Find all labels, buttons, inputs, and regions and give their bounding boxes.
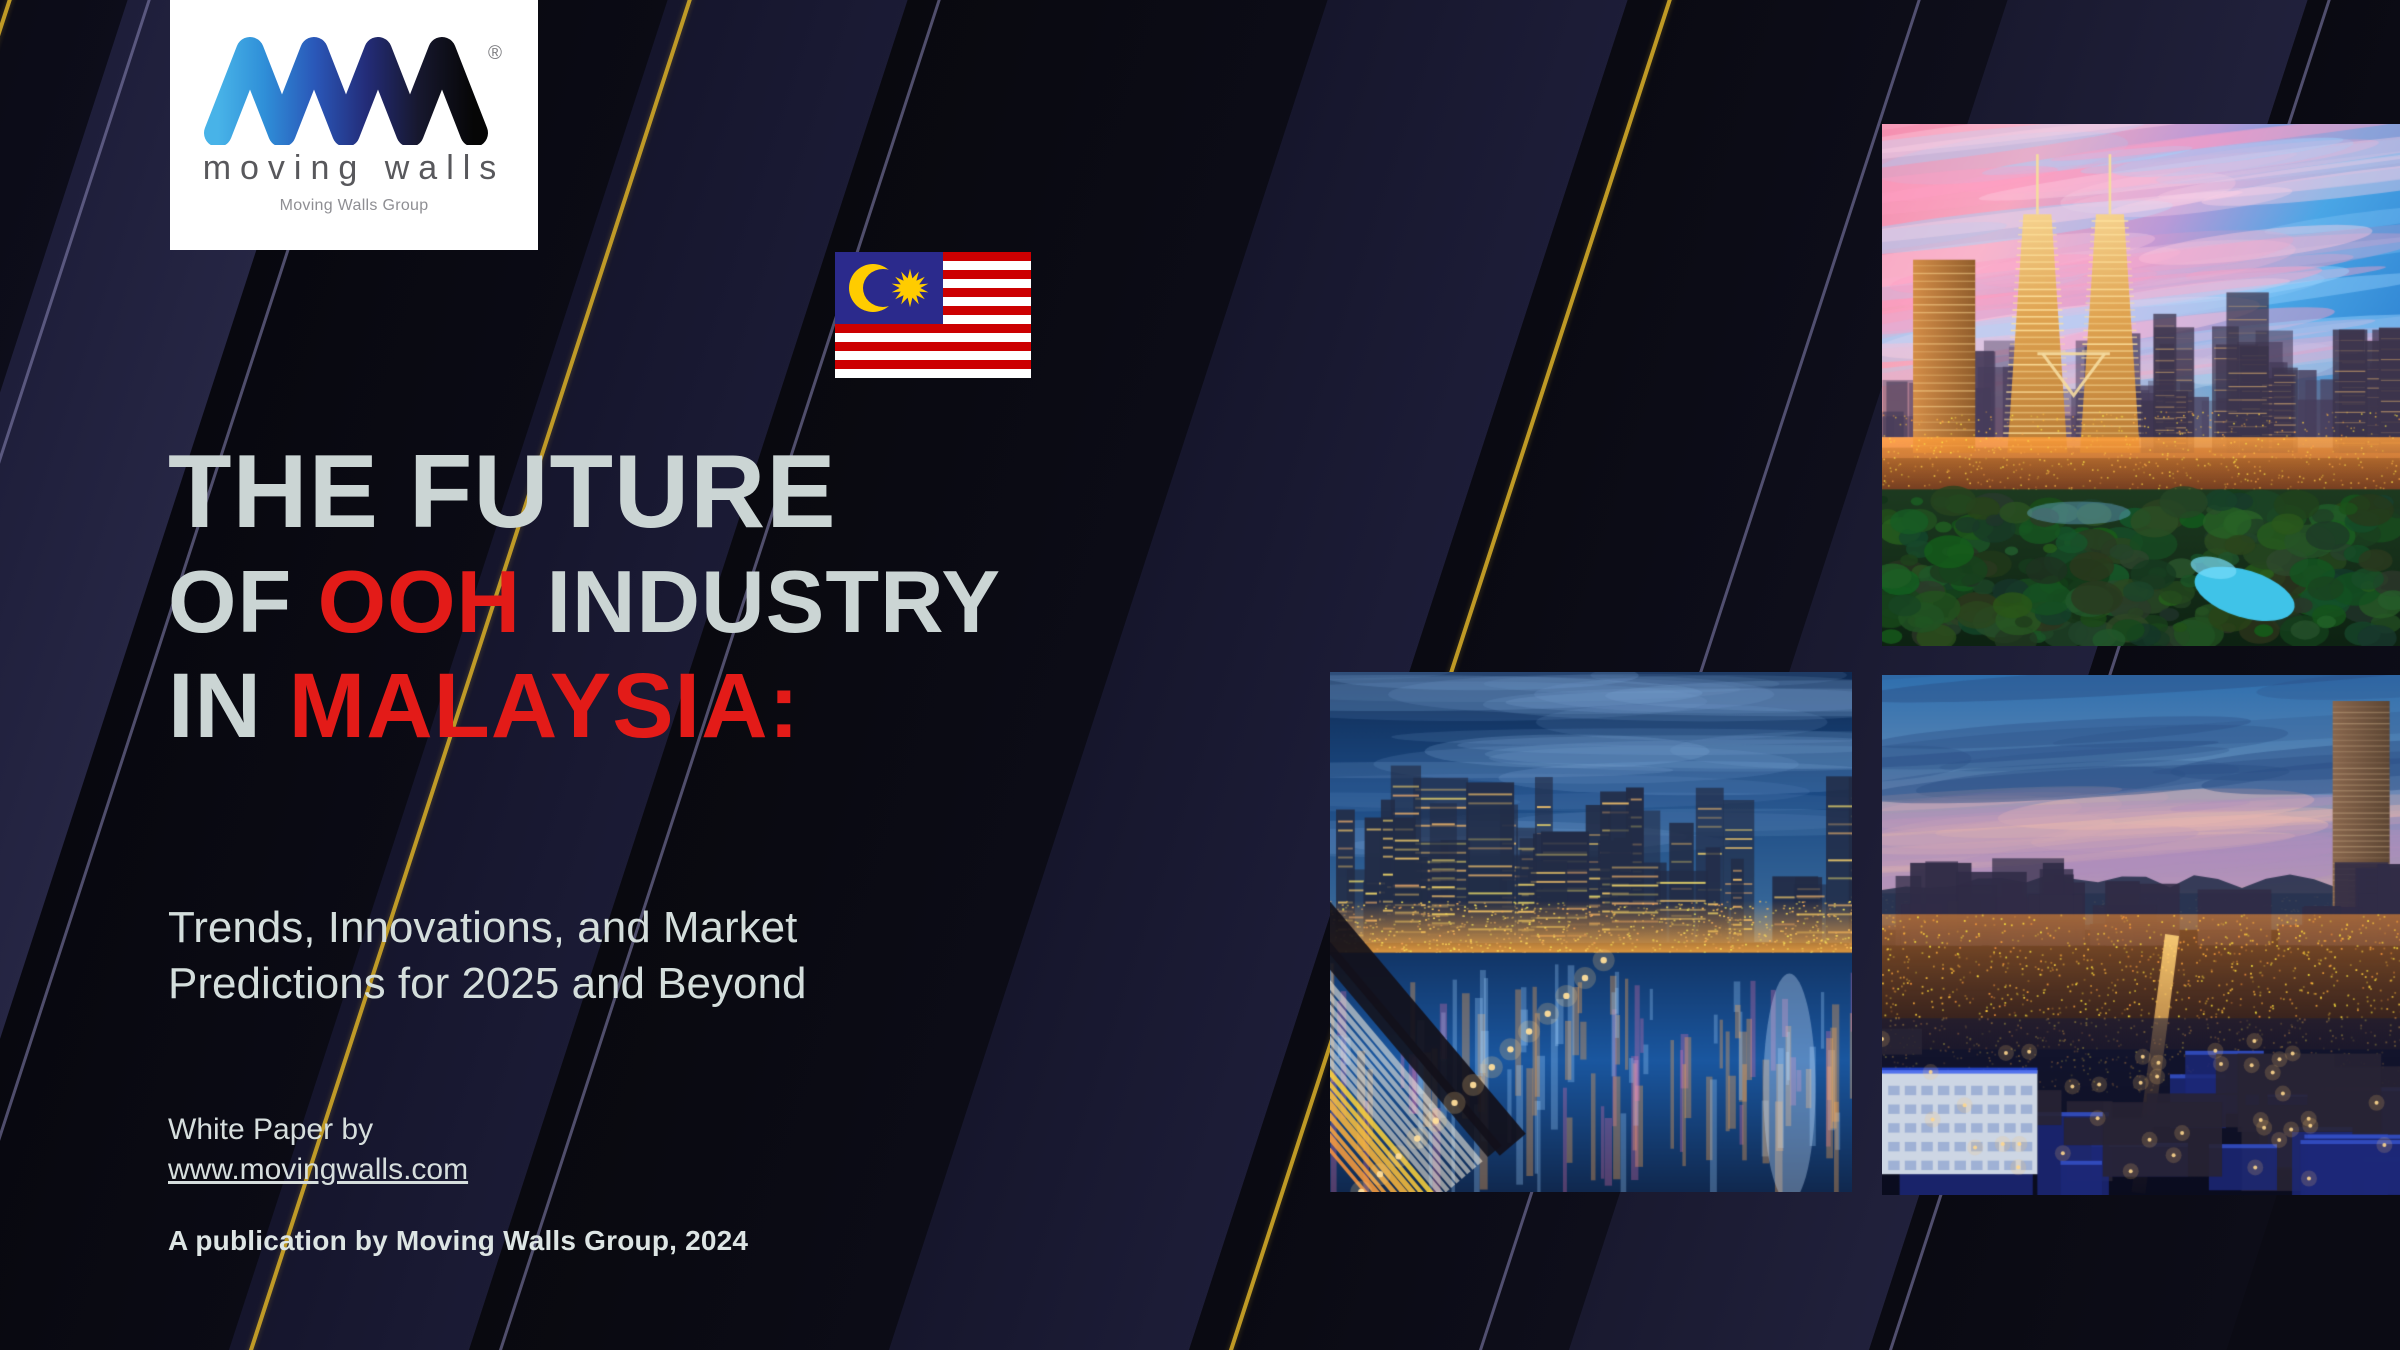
photo-penang <box>1882 675 2400 1195</box>
headline-in: IN <box>168 655 289 757</box>
white-paper-credit: White Paper by www.movingwalls.com <box>168 1110 468 1190</box>
logo-wordmark: moving walls <box>203 149 506 188</box>
subtitle-line-2: Predictions for 2025 and Beyond <box>168 956 1168 1012</box>
headline-line-3: IN MALAYSIA: <box>168 660 1368 752</box>
photo-johor-bahru <box>1330 672 1852 1192</box>
fourteen-point-star-icon <box>890 268 930 308</box>
page-title: THE FUTURE OF OOH INDUSTRY IN MALAYSIA: <box>168 440 1368 752</box>
registered-trademark-icon: ® <box>488 43 502 65</box>
white-paper-cover: ® moving walls Moving Walls Group THE FU… <box>0 0 2400 1350</box>
flag-canton <box>835 252 943 324</box>
headline-malaysia: MALAYSIA: <box>289 655 801 757</box>
mww-zigzag-mark-icon: ® <box>204 35 504 145</box>
headline-of: OF <box>168 552 318 651</box>
headline-line-1: THE FUTURE <box>168 440 1368 544</box>
moving-walls-logo: ® moving walls Moving Walls Group <box>170 0 538 250</box>
photo-kuala-lumpur <box>1882 124 2400 646</box>
headline-industry: INDUSTRY <box>521 552 1001 651</box>
publication-note: A publication by Moving Walls Group, 202… <box>168 1225 748 1257</box>
white-paper-by-label: White Paper by <box>168 1110 468 1150</box>
headline-line-2: OF OOH INDUSTRY <box>168 558 1368 646</box>
headline-ooh: OOH <box>318 552 521 651</box>
subtitle-line-1: Trends, Innovations, and Market <box>168 900 1168 956</box>
website-link[interactable]: www.movingwalls.com <box>168 1150 468 1190</box>
logo-subtitle: Moving Walls Group <box>280 197 429 215</box>
malaysia-flag-icon <box>835 252 1031 378</box>
page-subtitle: Trends, Innovations, and Market Predicti… <box>168 900 1168 1013</box>
